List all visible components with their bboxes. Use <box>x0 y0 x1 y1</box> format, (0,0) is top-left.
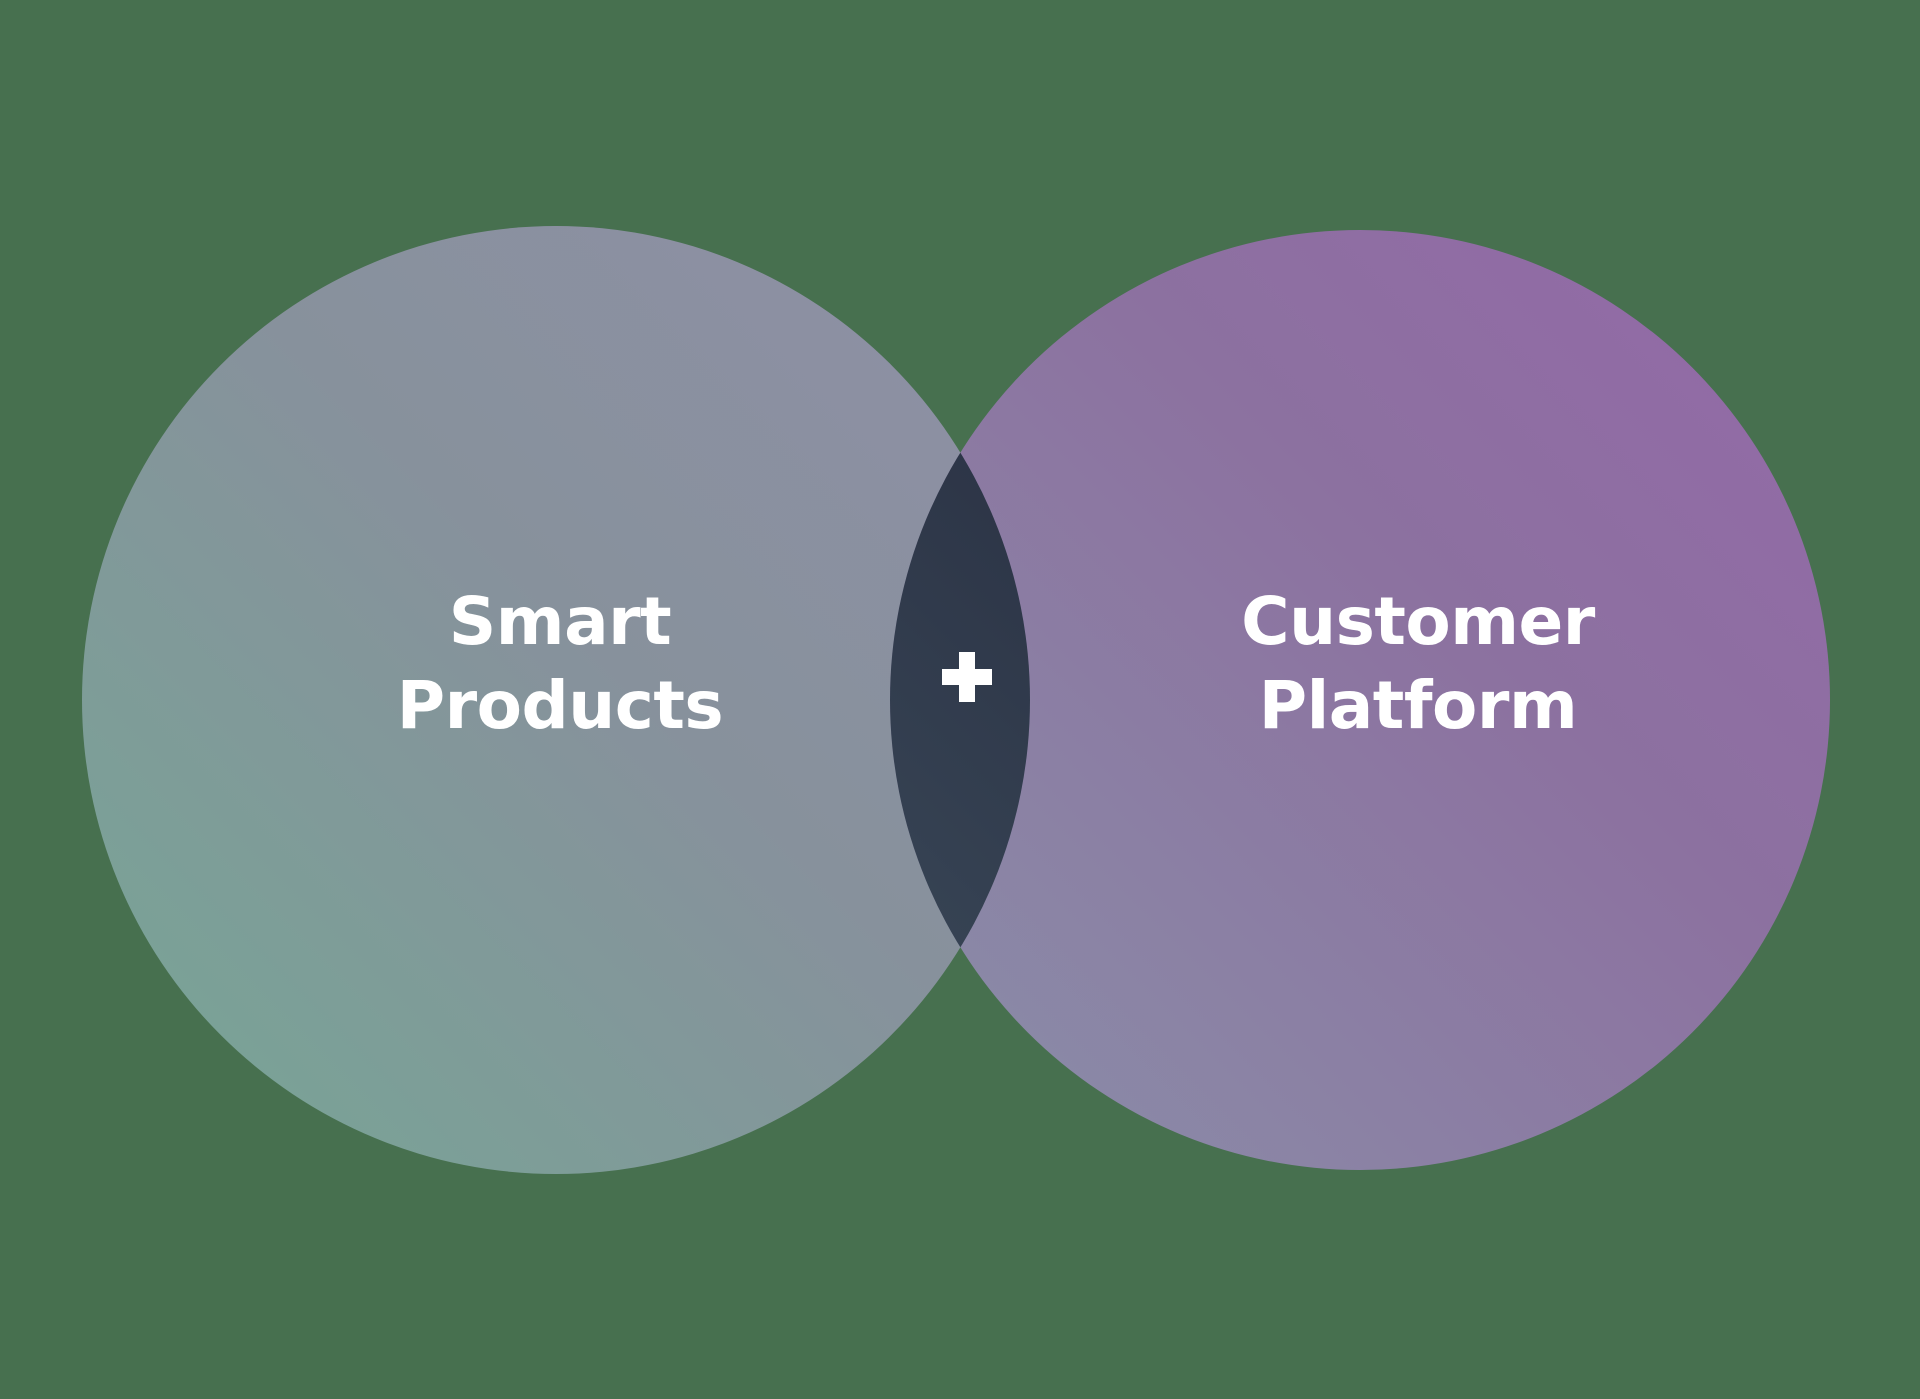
venn-diagram-canvas: Smart Products Customer Platform <box>0 0 1920 1399</box>
plus-icon-vertical-bar <box>959 652 975 702</box>
venn-circle-left <box>82 226 1030 1174</box>
plus-icon <box>942 652 992 702</box>
venn-circle-right <box>890 230 1830 1170</box>
